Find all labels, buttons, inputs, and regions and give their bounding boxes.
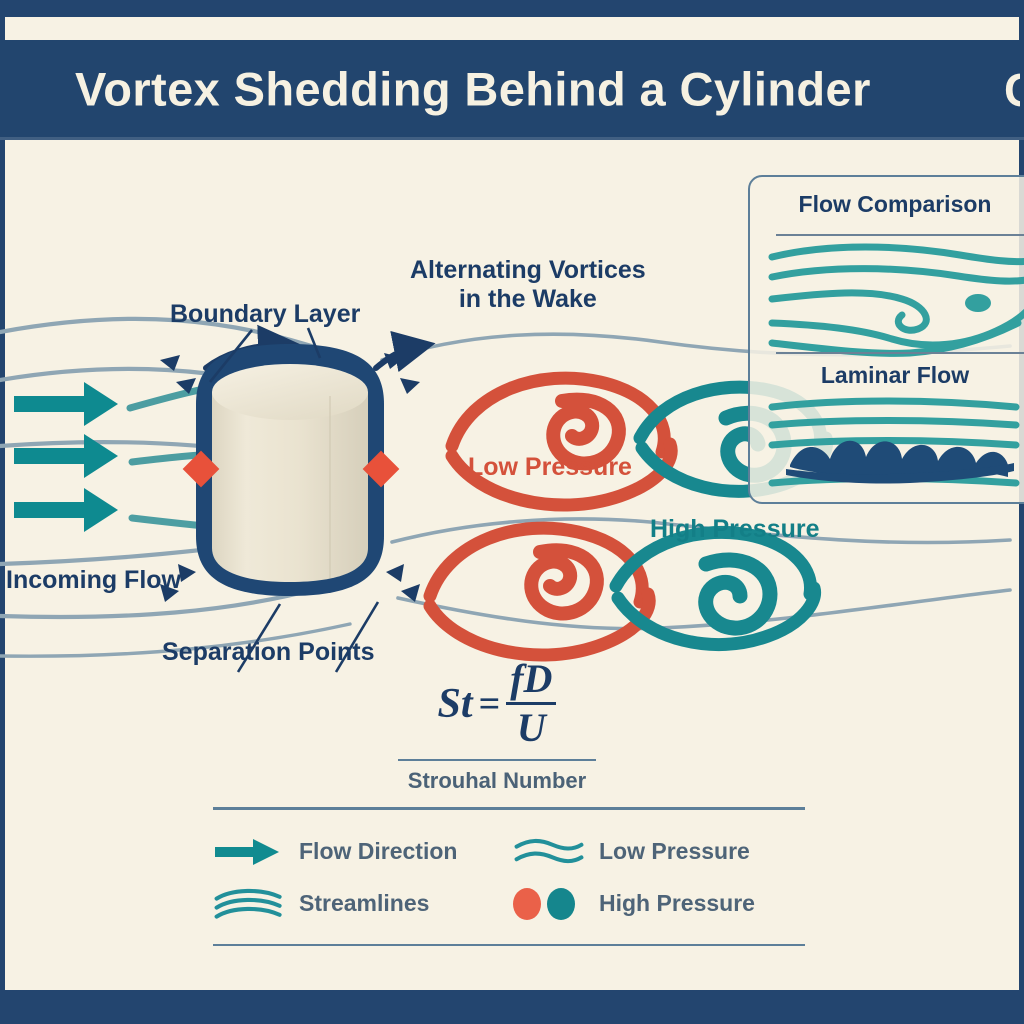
- cylinder-body: [196, 344, 384, 596]
- label-alternating-vortices-line2: in the Wake: [410, 285, 646, 314]
- inset-illustration: [750, 177, 1024, 502]
- legend-divider-bottom: [213, 944, 805, 947]
- formula-denominator: U: [513, 707, 550, 749]
- strouhal-formula-block: St = fD U Strouhal Number: [382, 658, 612, 794]
- wave-lines-icon: [513, 835, 585, 869]
- label-boundary-layer: Boundary Layer: [170, 300, 360, 329]
- legend-item-streamlines[interactable]: Streamlines: [213, 887, 513, 921]
- label-low-pressure: Low Pressure: [468, 453, 632, 482]
- legend-item-flow-direction[interactable]: Flow Direction: [213, 835, 513, 869]
- formula-caption: Strouhal Number: [382, 768, 612, 794]
- inset-subtitle: Laminar Flow: [750, 362, 1024, 389]
- dot-low-pressure-red: [513, 888, 541, 920]
- flow-field-canvas: Boundary Layer Alternating Vortices in t…: [0, 146, 1024, 990]
- frame-bottom-border: [0, 990, 1024, 1024]
- inset-divider-bottom: [776, 352, 1024, 354]
- strouhal-formula: St = fD U: [382, 658, 612, 749]
- legend-grid: Flow Direction Low Pressure: [213, 810, 805, 944]
- formula-fraction: fD U: [506, 658, 556, 749]
- formula-underline: [398, 759, 596, 761]
- dot-high-pressure-teal: [547, 888, 575, 920]
- inset-vortex-flow: [772, 247, 1024, 353]
- legend-label-flow-direction: Flow Direction: [299, 838, 457, 865]
- label-incoming-flow: Incoming Flow: [6, 566, 181, 595]
- page-title: Vortex Shedding Behind a Cylinder: [75, 61, 871, 116]
- poster-root: Vortex Shedding Behind a Cylinder C: [0, 0, 1024, 1024]
- title-banner: Vortex Shedding Behind a Cylinder C: [0, 40, 1024, 140]
- incoming-flow-arrows: [14, 382, 118, 532]
- frame-top-border: [0, 0, 1024, 17]
- legend-item-low-pressure[interactable]: Low Pressure: [513, 835, 805, 869]
- label-alternating-vortices-line1: Alternating Vortices: [410, 256, 646, 285]
- label-separation-points: Separation Points: [162, 638, 375, 667]
- pressure-dots-icon: [513, 887, 585, 921]
- label-alternating-vortices: Alternating Vortices in the Wake: [410, 256, 646, 314]
- formula-numerator: fD: [506, 658, 556, 700]
- flow-comparison-panel: Flow Comparison: [748, 175, 1024, 504]
- streamlines-icon: [213, 887, 285, 921]
- legend-label-low-pressure: Low Pressure: [599, 838, 750, 865]
- inset-turbulent-wave: [786, 441, 1014, 484]
- arrow-right-icon: [213, 835, 285, 869]
- formula-lhs: St: [438, 680, 473, 728]
- formula-equals: =: [479, 682, 501, 726]
- label-high-pressure: High Pressure: [650, 515, 820, 544]
- title-edge-clipped-glyph: C: [1004, 63, 1020, 117]
- legend-label-high-pressure: High Pressure: [599, 890, 755, 917]
- legend-item-high-pressure[interactable]: High Pressure: [513, 887, 805, 921]
- legend-label-streamlines: Streamlines: [299, 890, 429, 917]
- legend: Flow Direction Low Pressure: [213, 807, 805, 946]
